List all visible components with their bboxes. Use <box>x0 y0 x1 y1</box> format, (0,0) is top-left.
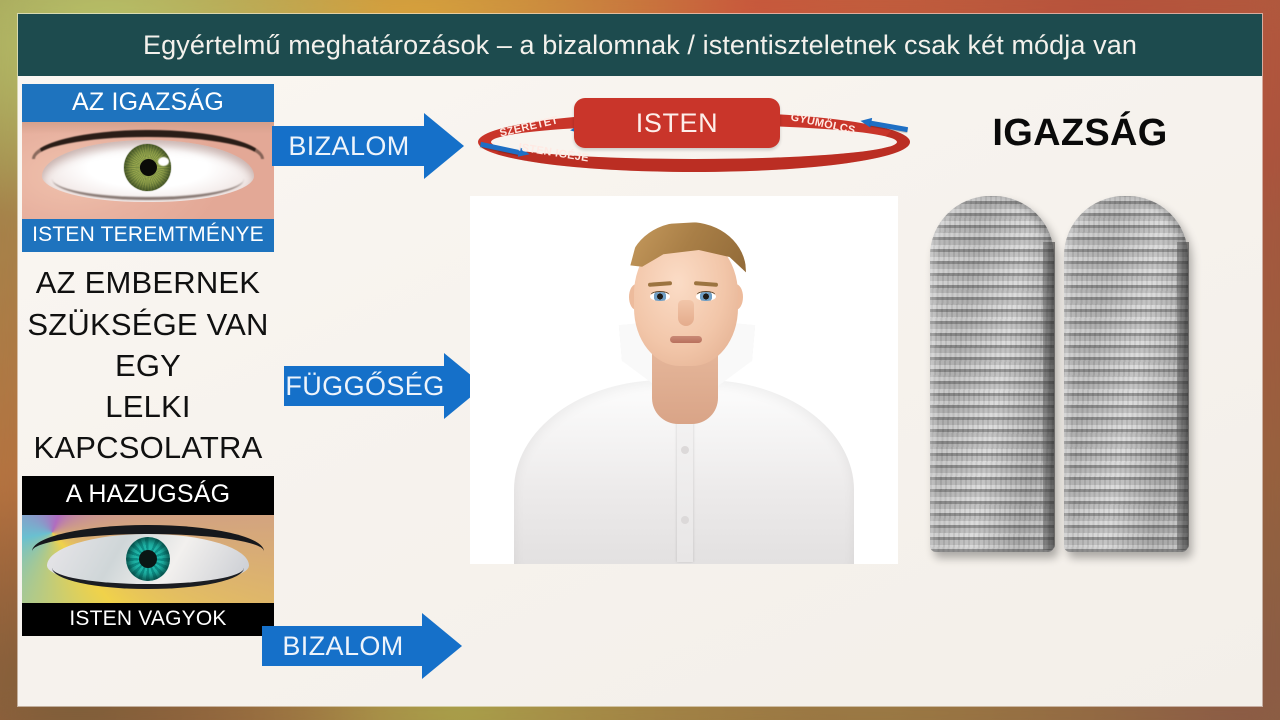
diagram-center-isten: ISTEN <box>574 98 780 148</box>
arrow-label: FÜGGŐSÉG <box>285 371 444 402</box>
poly-eye-lower-lash <box>52 567 244 588</box>
arrow-bizalom-top: BIZALOM <box>272 113 464 179</box>
need-text-line-5: KAPCSOLATRA <box>22 427 274 468</box>
arrow-head-icon <box>424 113 464 179</box>
need-text-line-2: SZÜKSÉGE VAN <box>22 304 274 345</box>
tablet-side-face <box>1043 242 1055 550</box>
slide-background: Egyértelmű meghatározások – a bizalomnak… <box>0 0 1280 720</box>
arrow-head-icon <box>422 613 462 679</box>
igazsag-heading: IGAZSÁG <box>930 112 1230 155</box>
green-eye-icon <box>22 122 274 219</box>
portrait-eye-left <box>650 292 670 301</box>
eye-upper-lash <box>32 130 264 159</box>
truth-card-footer: ISTEN TEREMTMÉNYE <box>22 219 274 252</box>
portrait-shirt-button <box>681 446 689 454</box>
arrow-label: BIZALOM <box>282 631 403 662</box>
lie-card-header: A HAZUGSÁG <box>22 476 274 514</box>
arrow-label: BIZALOM <box>288 131 409 162</box>
portrait-nose <box>678 300 694 326</box>
polygonal-eye-icon <box>22 515 274 603</box>
portrait-mouth <box>670 336 702 343</box>
arrow-fuggoseg: FÜGGŐSÉG <box>284 353 484 419</box>
page-title: Egyértelmű meghatározások – a bizalomnak… <box>143 30 1137 61</box>
need-text-line-3: EGY <box>22 345 274 386</box>
left-column: AZ IGAZSÁG ISTEN TEREMTMÉNYE AZ EMBERNEK… <box>22 84 274 696</box>
truth-card-header: AZ IGAZSÁG <box>22 84 274 122</box>
lie-card: A HAZUGSÁG ISTEN VAGYOK <box>22 476 274 635</box>
stone-tablets-image <box>930 196 1198 564</box>
arrow-bizalom-bottom: BIZALOM <box>262 613 462 679</box>
slide-title-bar: Egyértelmű meghatározások – a bizalomnak… <box>18 14 1262 76</box>
portrait-photo <box>470 196 898 564</box>
lie-card-footer: ISTEN VAGYOK <box>22 603 274 636</box>
tablet-side-face <box>1177 242 1189 550</box>
need-text-block: AZ EMBERNEK SZÜKSÉGE VAN EGY LELKI KAPCS… <box>22 262 274 468</box>
portrait-eye-right <box>696 292 716 301</box>
arrow-shaft: FÜGGŐSÉG <box>284 366 444 406</box>
diagram-center-label: ISTEN <box>636 108 719 139</box>
poly-eye-pupil <box>139 550 157 568</box>
arrow-shaft: BIZALOM <box>262 626 422 666</box>
arrow-shaft: BIZALOM <box>272 126 424 166</box>
need-text-line-1: AZ EMBERNEK <box>22 262 274 303</box>
eye-pupil <box>140 159 157 176</box>
isten-cycle-diagram: SZERETET ISTEN IGÉJE GYÜMÖLCS ISTEN <box>478 98 910 176</box>
stone-tablet-left <box>930 196 1054 552</box>
portrait-shirt-button <box>681 516 689 524</box>
need-text-line-4: LELKI <box>22 386 274 427</box>
truth-card: AZ IGAZSÁG ISTEN TEREMTMÉNYE <box>22 84 274 252</box>
left-column-spacer <box>22 468 274 476</box>
poly-eye-upper-lash <box>32 525 264 551</box>
stone-tablet-right <box>1064 196 1188 552</box>
